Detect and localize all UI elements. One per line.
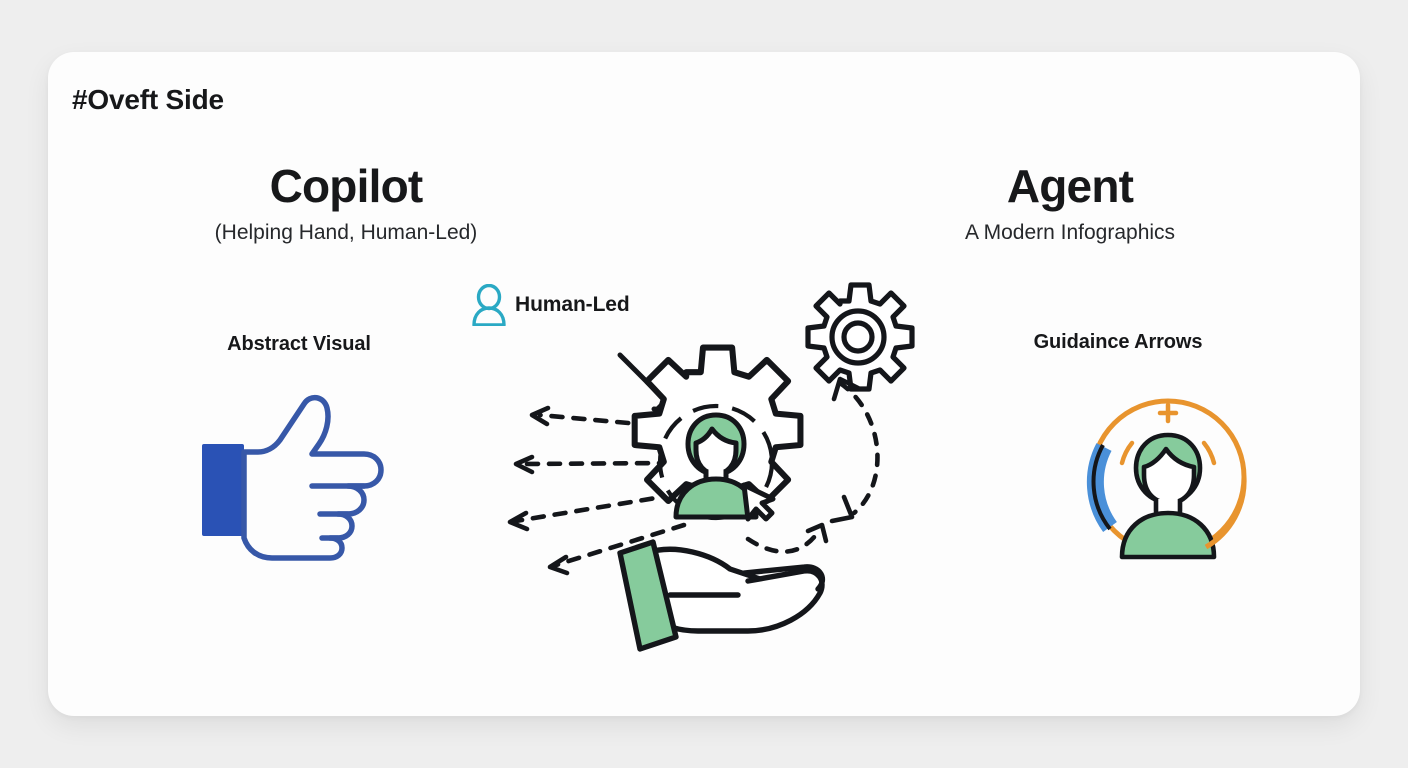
secondary-gear-icon — [808, 285, 912, 389]
helping-hand-icon — [620, 542, 822, 649]
agent-person-icon — [1122, 435, 1214, 557]
human-led-badge: Human-Led — [472, 284, 630, 326]
column-title-copilot: Copilot — [136, 162, 556, 210]
agent-sparkle-icon — [1160, 405, 1176, 421]
column-title-agent: Agent — [860, 162, 1280, 210]
agent-avatar-icon — [1068, 377, 1268, 577]
page-title: #Oveft Side — [72, 84, 224, 116]
screenshot-root: #Oveft Side Copilot (Helping Hand, Human… — [0, 0, 1408, 768]
agent-arc-left — [1122, 443, 1132, 463]
person-outline-icon — [472, 284, 506, 326]
feature-label-abstract-visual: Abstract Visual — [134, 333, 464, 356]
human-led-label: Human-Led — [515, 293, 630, 317]
column-subtitle-agent: A Modern Infographics — [860, 220, 1280, 245]
helping-hand-gears-icon — [448, 267, 948, 667]
agent-arc-right — [1204, 443, 1214, 463]
feature-label-guidance-arrows: Guidaince Arrows — [898, 331, 1338, 354]
main-card: #Oveft Side Copilot (Helping Hand, Human… — [48, 52, 1360, 716]
column-header-agent: Agent A Modern Infographics — [860, 162, 1280, 245]
column-header-copilot: Copilot (Helping Hand, Human-Led) — [136, 162, 556, 245]
thumbs-up-cuff — [202, 444, 244, 536]
thumbs-up-icon — [188, 382, 408, 582]
thumbs-up-hand — [244, 398, 381, 558]
column-subtitle-copilot: (Helping Hand, Human-Led) — [136, 220, 556, 245]
